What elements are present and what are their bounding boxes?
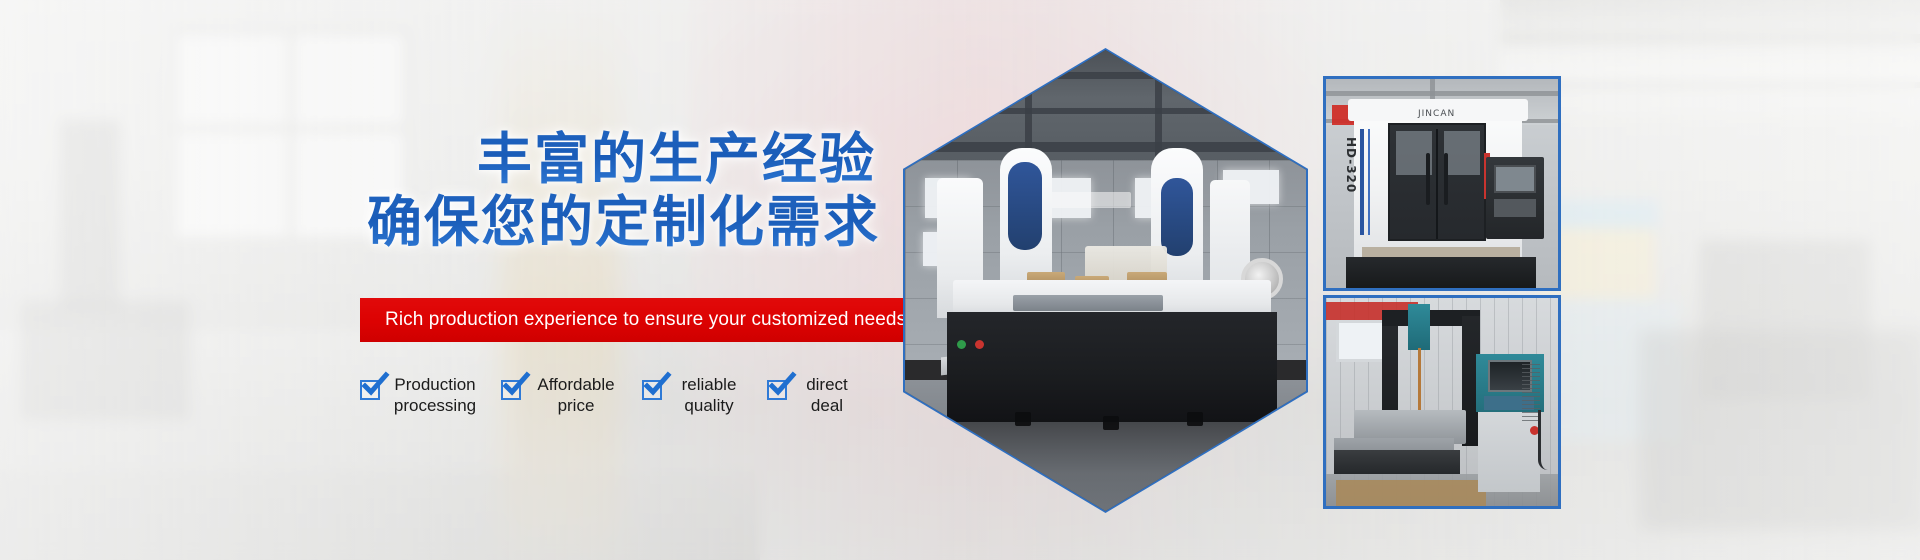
checkbox-checked-icon xyxy=(360,380,380,400)
feature-label: Production processing xyxy=(389,372,481,416)
headline-line-2: 确保您的定制化需求 xyxy=(0,191,880,254)
machine-base xyxy=(1346,257,1536,291)
feature-list: Production processing Affordable price r… xyxy=(360,372,858,416)
wooden-pallet xyxy=(1336,480,1486,506)
thumb-window xyxy=(1336,320,1388,362)
promo-banner: 丰富的生产经验 确保您的定制化需求 Rich production experi… xyxy=(0,0,1920,560)
checkbox-checked-icon xyxy=(642,380,662,400)
scene-truss xyxy=(905,108,1306,114)
machine-indicator-red xyxy=(975,340,984,349)
hexagon-photo xyxy=(905,50,1306,511)
machine-model-label: HD-320 xyxy=(1344,137,1358,193)
machine-stripe xyxy=(1360,129,1364,235)
headline: 丰富的生产经验 确保您的定制化需求 xyxy=(0,128,880,254)
machine-panel xyxy=(1161,178,1193,256)
feature-label: direct deal xyxy=(796,372,858,416)
thumbnail-machining-center: JINCAN HD-320 xyxy=(1323,76,1561,291)
machine-control-buttons xyxy=(1494,199,1536,217)
machine-stripe xyxy=(1368,129,1370,235)
machine-base xyxy=(947,312,1277,422)
machine-table-base xyxy=(1334,450,1460,474)
power-cord xyxy=(1538,410,1548,470)
machine-door-handle xyxy=(1444,153,1448,205)
scene-shadow xyxy=(905,422,1306,511)
machine-brand-mark: JINCAN xyxy=(1418,109,1455,119)
machine-door-glass xyxy=(1444,131,1480,175)
subtitle-text: Rich production experience to ensure you… xyxy=(360,309,906,331)
checkbox-checked-icon xyxy=(501,380,521,400)
thumb-beam xyxy=(1326,91,1558,96)
feature-item: direct deal xyxy=(767,372,858,416)
scene-truss xyxy=(905,72,1306,79)
headline-line-1: 丰富的生产经验 xyxy=(0,128,880,191)
thumbnail-edm-machine xyxy=(1323,295,1561,509)
machine-panel xyxy=(1008,162,1042,250)
machine-bed-slot xyxy=(1013,295,1163,311)
subtitle-bar: Rich production experience to ensure you… xyxy=(360,298,906,342)
feature-item: Affordable price xyxy=(501,372,622,416)
machine-control-screen xyxy=(1494,165,1536,193)
feature-item: Production processing xyxy=(360,372,481,416)
scene-truss xyxy=(905,142,1306,152)
feature-label: reliable quality xyxy=(671,372,747,416)
machine-indicator-green xyxy=(957,340,966,349)
copy-block: 丰富的生产经验 确保您的定制化需求 Rich production experi… xyxy=(0,0,960,560)
feature-item: reliable quality xyxy=(642,372,747,416)
checkbox-checked-icon xyxy=(767,380,787,400)
machine-door-handle xyxy=(1426,153,1430,205)
hexagon-image xyxy=(903,48,1308,513)
feature-label: Affordable price xyxy=(530,372,622,416)
machine-head xyxy=(1408,304,1430,350)
